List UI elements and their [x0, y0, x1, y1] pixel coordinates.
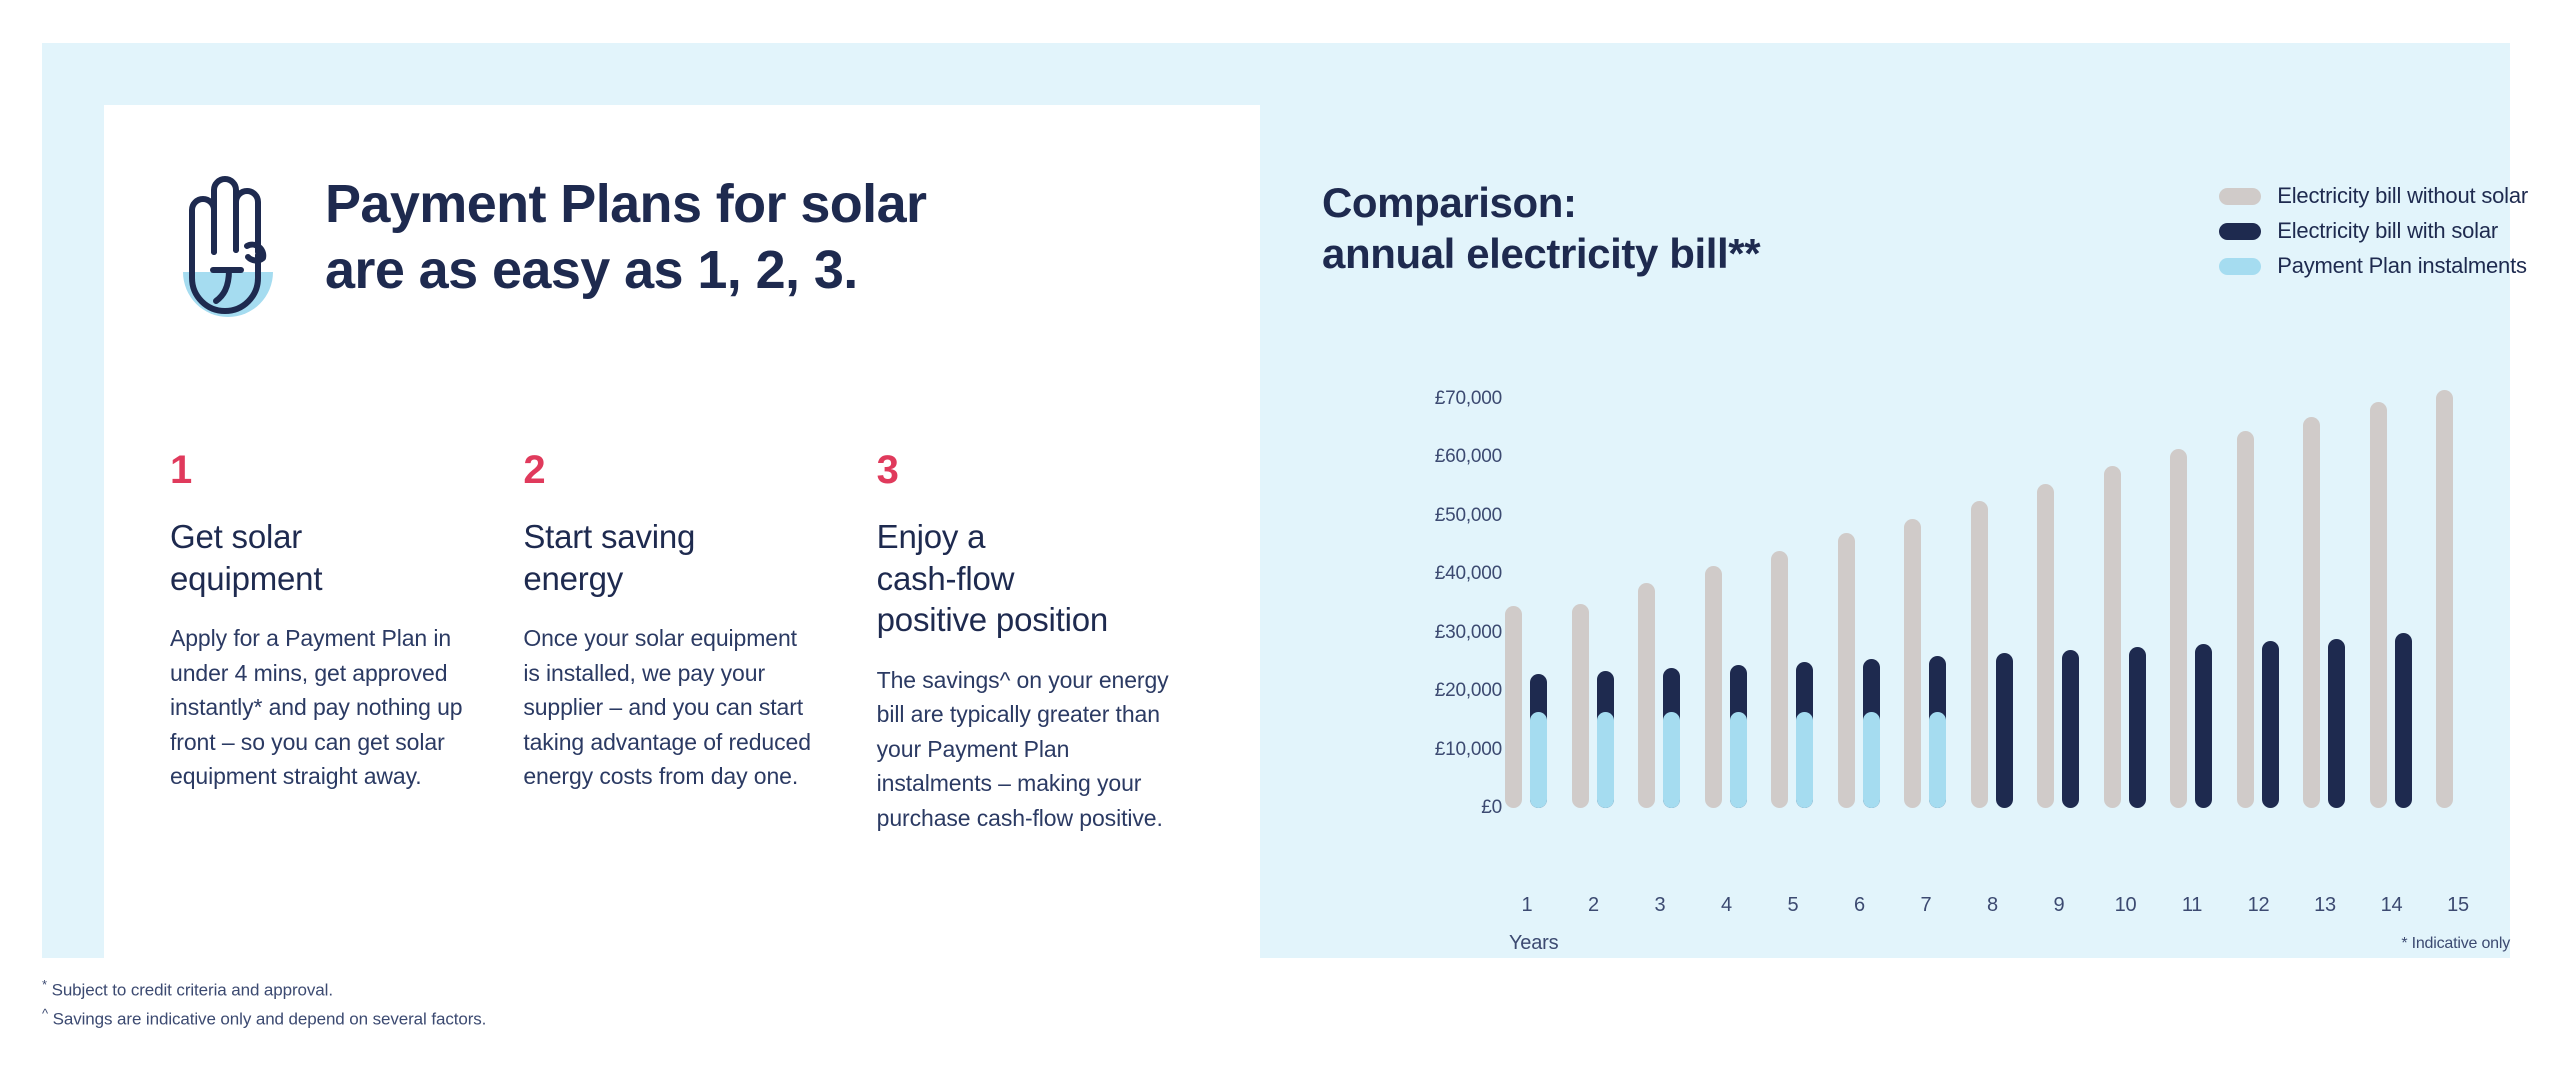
card-title: Payment Plans for solar are as easy as 1… [325, 160, 926, 304]
bar-instalments [1730, 712, 1747, 808]
bar-group [1505, 369, 1551, 808]
chart-plot-area: £70,000£60,000£50,000£40,000£30,000£20,0… [1260, 105, 2552, 980]
bar-without-solar [1838, 533, 1855, 808]
step-body: Once your solar equipment is installed, … [523, 621, 818, 794]
indicative-note: * Indicative only [2401, 935, 2510, 953]
bar-without-solar [1771, 551, 1788, 808]
x-axis-tick: 5 [1772, 894, 1814, 917]
x-axis-label: Years [1509, 932, 1558, 955]
step-item: 1 Get solar equipment Apply for a Paymen… [170, 450, 523, 835]
step-title: Start saving energy [523, 516, 818, 599]
bar-with-solar [2395, 633, 2412, 808]
bar-group [1771, 369, 1817, 808]
bar-instalments [1530, 712, 1547, 808]
comparison-chart-panel: Comparison: annual electricity bill** El… [1260, 105, 2552, 980]
y-axis-tick: £60,000 [1362, 446, 1502, 468]
bar-group [1838, 369, 1884, 808]
y-axis-tick: £30,000 [1362, 622, 1502, 644]
bar-without-solar [1904, 519, 1921, 808]
bar-with-solar [1996, 653, 2013, 808]
step-title: Get solar equipment [170, 516, 465, 599]
bar-group [2370, 369, 2416, 808]
payment-plans-card: Payment Plans for solar are as easy as 1… [104, 105, 1260, 980]
bar-group [2237, 369, 2283, 808]
y-axis-tick: £50,000 [1362, 505, 1502, 527]
bar-group [1705, 369, 1751, 808]
y-axis-tick: £10,000 [1362, 739, 1502, 761]
bar-group [1904, 369, 1950, 808]
bar-without-solar [2237, 431, 2254, 808]
bar-group [1572, 369, 1618, 808]
x-axis-tick: 14 [2371, 894, 2413, 917]
bar-with-solar [2195, 644, 2212, 808]
y-axis-tick: £20,000 [1362, 680, 1502, 702]
bar-with-solar [2328, 639, 2345, 808]
x-axis-tick: 3 [1639, 894, 1681, 917]
bar-with-solar [2262, 641, 2279, 808]
bar-without-solar [1505, 606, 1522, 808]
bar-without-solar [2436, 390, 2453, 808]
bar-instalments [1663, 712, 1680, 808]
footnote-mark: * [42, 977, 47, 992]
bar-group [2037, 369, 2083, 808]
step-number: 2 [523, 450, 818, 490]
footnote-text: Subject to credit criteria and approval. [52, 981, 333, 1000]
bar-group [2170, 369, 2216, 808]
bar-without-solar [2170, 449, 2187, 808]
x-axis-tick: 8 [1972, 894, 2014, 917]
bar-instalments [1597, 712, 1614, 808]
x-axis-tick: 4 [1706, 894, 1748, 917]
bar-without-solar [1572, 604, 1589, 809]
x-axis-tick: 15 [2437, 894, 2479, 917]
footnote-text: Savings are indicative only and depend o… [53, 1010, 487, 1029]
hand-three-fingers-icon [169, 160, 287, 330]
bar-without-solar [2303, 417, 2320, 808]
x-axis-tick: 12 [2238, 894, 2280, 917]
chart-bars [1505, 105, 2510, 980]
bar-without-solar [2104, 466, 2121, 808]
step-number: 1 [170, 450, 465, 490]
x-axis-tick: 9 [2038, 894, 2080, 917]
x-axis-tick: 13 [2304, 894, 2346, 917]
bar-group [2303, 369, 2349, 808]
bar-with-solar [2129, 647, 2146, 808]
steps-list: 1 Get solar equipment Apply for a Paymen… [170, 450, 1230, 835]
y-axis-tick: £40,000 [1362, 563, 1502, 585]
y-axis-tick: £0 [1362, 797, 1502, 819]
footnote-row: * Subject to credit criteria and approva… [42, 975, 486, 1004]
step-number: 3 [877, 450, 1172, 490]
card-header: Payment Plans for solar are as easy as 1… [169, 160, 926, 330]
footnotes: * Subject to credit criteria and approva… [42, 975, 486, 1033]
bar-group [2104, 369, 2150, 808]
x-axis-tick: 6 [1839, 894, 1881, 917]
step-title: Enjoy a cash-flow positive position [877, 516, 1172, 641]
x-axis-tick: 11 [2171, 894, 2213, 917]
promo-panel: Payment Plans for solar are as easy as 1… [42, 43, 2510, 958]
bar-instalments [1863, 712, 1880, 808]
bar-without-solar [1638, 583, 1655, 808]
step-body: The savings^ on your energy bill are typ… [877, 663, 1172, 836]
bar-with-solar [2062, 650, 2079, 808]
bar-group [1971, 369, 2017, 808]
x-axis-tick: 10 [2105, 894, 2147, 917]
step-item: 2 Start saving energy Once your solar eq… [523, 450, 876, 835]
footnote-mark: ^ [42, 1006, 48, 1021]
y-axis-tick: £70,000 [1362, 388, 1502, 410]
bar-without-solar [1705, 566, 1722, 808]
page-root: Payment Plans for solar are as easy as 1… [0, 0, 2560, 1065]
x-axis-tick: 2 [1573, 894, 1615, 917]
bar-without-solar [1971, 501, 1988, 808]
step-body: Apply for a Payment Plan in under 4 mins… [170, 621, 465, 794]
footnote-row: ^ Savings are indicative only and depend… [42, 1004, 486, 1033]
bar-instalments [1929, 712, 1946, 808]
bar-group [1638, 369, 1684, 808]
bar-without-solar [2037, 484, 2054, 808]
bar-group [2436, 369, 2482, 808]
x-axis-tick: 1 [1506, 894, 1548, 917]
bar-instalments [1796, 712, 1813, 808]
x-axis-tick: 7 [1905, 894, 1947, 917]
bar-without-solar [2370, 402, 2387, 808]
step-item: 3 Enjoy a cash-flow positive position Th… [877, 450, 1230, 835]
